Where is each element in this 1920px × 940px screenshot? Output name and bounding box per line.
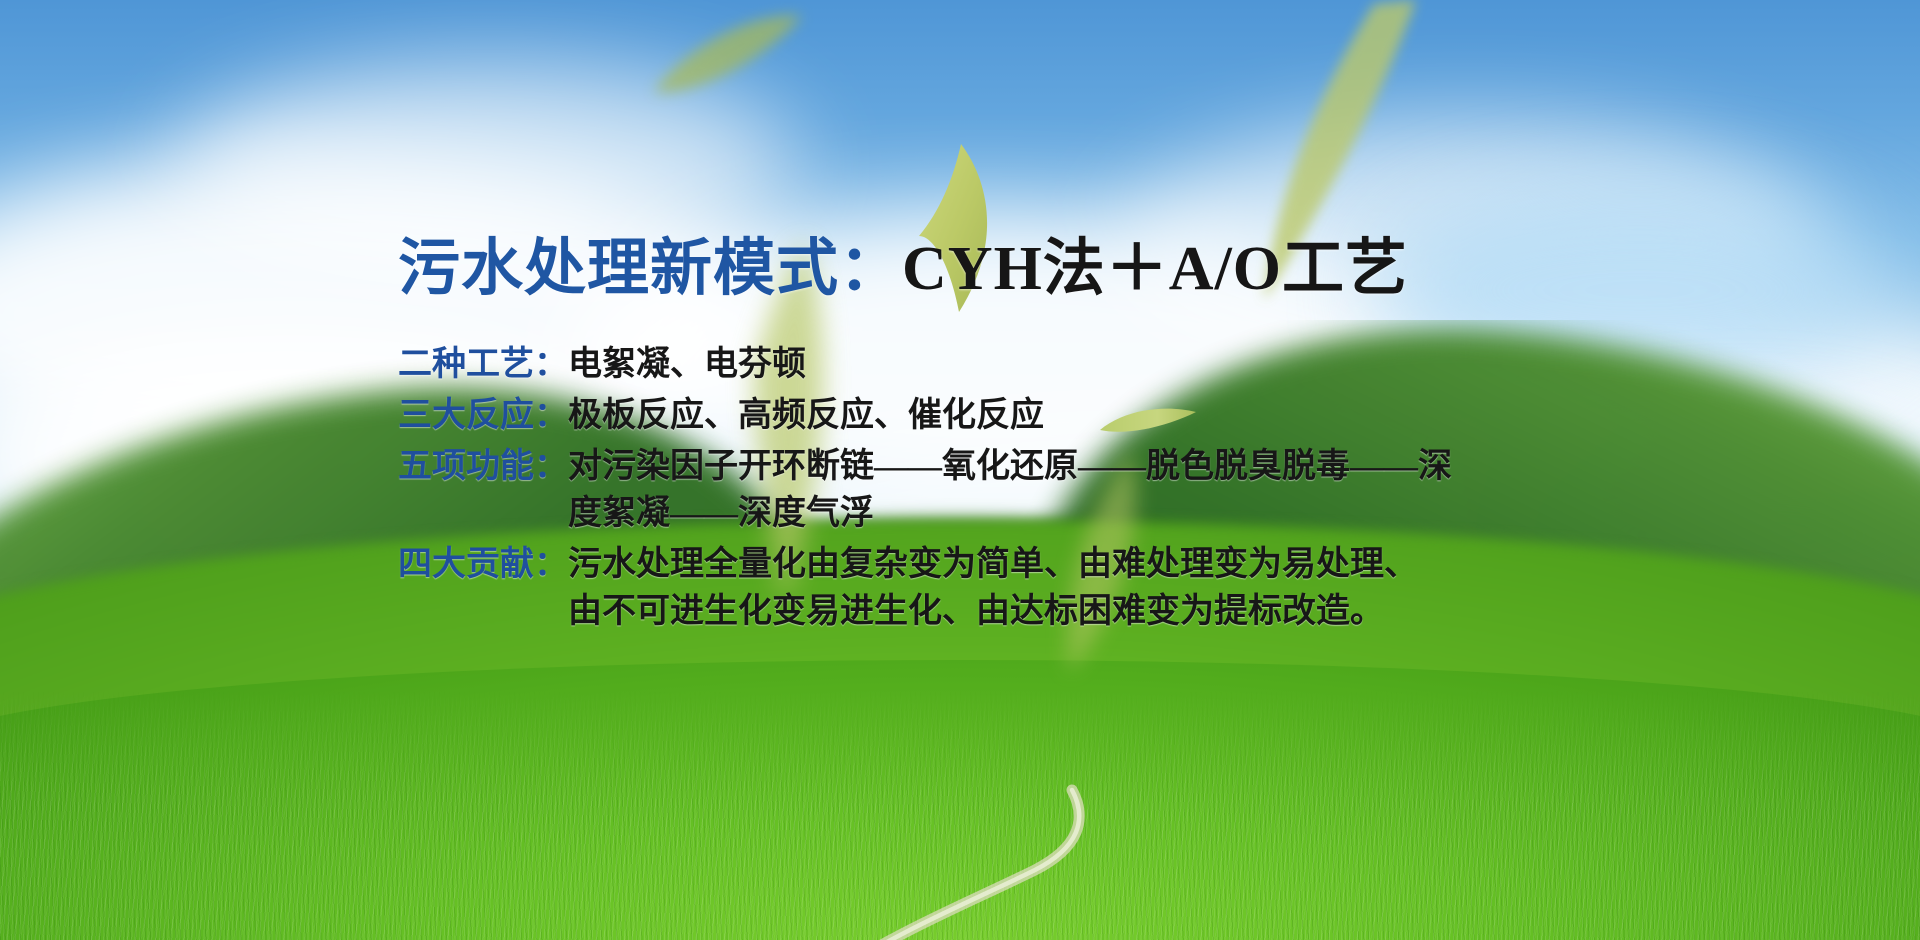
text-content: 污水处理新模式：CYH法＋A/O工艺 二种工艺： 电絮凝、电芬顿 三大反应： 极… bbox=[398, 238, 1458, 639]
bullet-rows: 二种工艺： 电絮凝、电芬顿 三大反应： 极板反应、高频反应、催化反应 五项功能：… bbox=[398, 342, 1458, 635]
row-label: 五项功能： bbox=[398, 444, 568, 491]
title-highlight: 污水处理新模式： bbox=[398, 235, 902, 303]
row-label: 二种工艺： bbox=[398, 342, 568, 389]
row-line: 度絮凝——深度气浮 bbox=[568, 491, 1458, 538]
row-line: 由不可进生化变易进生化、由达标困难变为提标改造。 bbox=[568, 589, 1458, 636]
row-label: 三大反应： bbox=[398, 393, 568, 440]
poster-slide: 污水处理新模式：CYH法＋A/O工艺 二种工艺： 电絮凝、电芬顿 三大反应： 极… bbox=[0, 0, 1920, 940]
bullet-row: 三大反应： 极板反应、高频反应、催化反应 bbox=[398, 393, 1458, 440]
title-rest: CYH法＋A/O工艺 bbox=[902, 235, 1408, 303]
bullet-row: 二种工艺： 电絮凝、电芬顿 bbox=[398, 342, 1458, 389]
page-title: 污水处理新模式：CYH法＋A/O工艺 bbox=[398, 238, 1458, 300]
row-value: 污水处理全量化由复杂变为简单、由难处理变为易处理、 由不可进生化变易进生化、由达… bbox=[568, 542, 1458, 636]
bullet-row: 五项功能： 对污染因子开环断链——氧化还原——脱色脱臭脱毒——深 度絮凝——深度… bbox=[398, 444, 1458, 538]
row-line: 对污染因子开环断链——氧化还原——脱色脱臭脱毒——深 bbox=[568, 444, 1458, 491]
grass-texture bbox=[0, 690, 1920, 940]
row-value: 极板反应、高频反应、催化反应 bbox=[568, 393, 1458, 440]
row-label: 四大贡献： bbox=[398, 542, 568, 589]
row-line: 极板反应、高频反应、催化反应 bbox=[568, 393, 1458, 440]
row-line: 污水处理全量化由复杂变为简单、由难处理变为易处理、 bbox=[568, 542, 1458, 589]
row-value: 对污染因子开环断链——氧化还原——脱色脱臭脱毒——深 度絮凝——深度气浮 bbox=[568, 444, 1458, 538]
row-value: 电絮凝、电芬顿 bbox=[568, 342, 1458, 389]
bullet-row: 四大贡献： 污水处理全量化由复杂变为简单、由难处理变为易处理、 由不可进生化变易… bbox=[398, 542, 1458, 636]
row-line: 电絮凝、电芬顿 bbox=[568, 342, 1458, 389]
